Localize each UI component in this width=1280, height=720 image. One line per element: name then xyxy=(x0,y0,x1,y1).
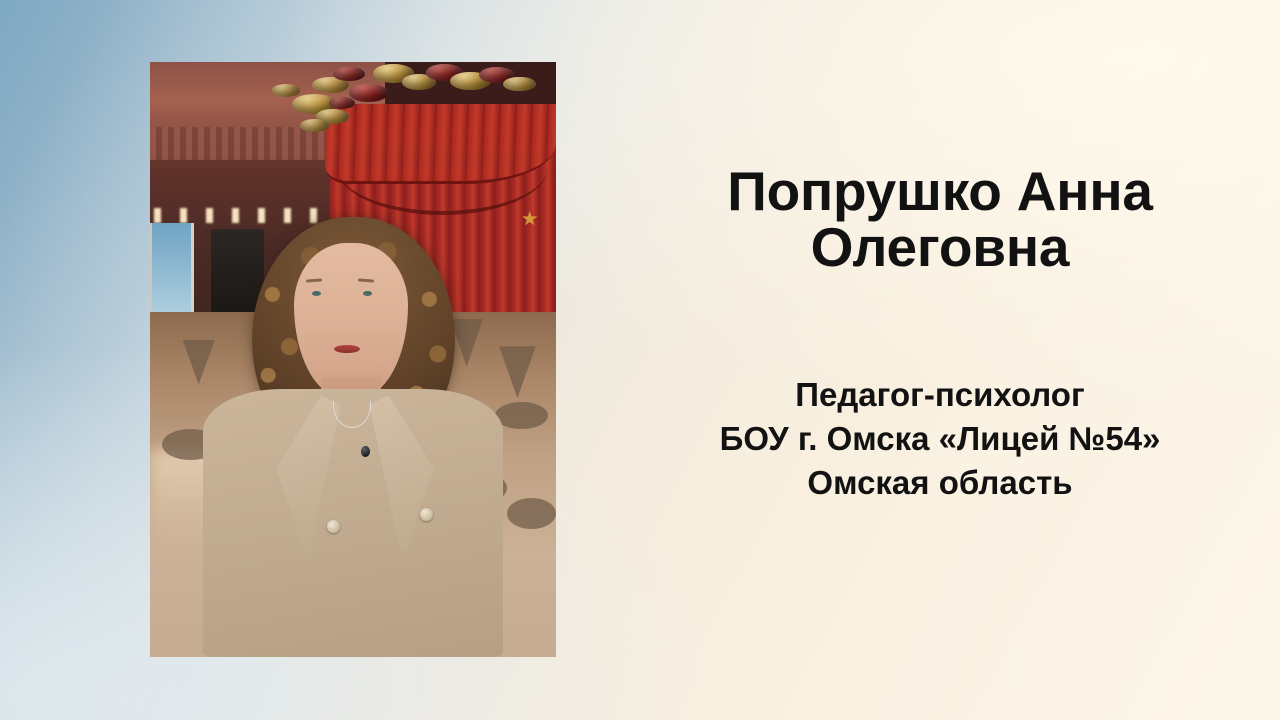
presentation-slide: Попрушко Анна Олеговна Педагог-психолог … xyxy=(0,0,1280,720)
beige-blazer xyxy=(203,389,503,657)
lips xyxy=(334,345,360,353)
title-line-1: Попрушко Анна xyxy=(600,163,1280,219)
title-line-2: Олеговна xyxy=(600,219,1280,275)
eyebrow-left xyxy=(306,278,322,282)
eyebrow-right xyxy=(358,278,374,282)
portrait-photo xyxy=(150,62,556,657)
slide-title: Попрушко Анна Олеговна xyxy=(600,163,1280,275)
necklace-pendant xyxy=(361,446,370,457)
person-figure xyxy=(150,62,556,657)
blazer-button xyxy=(327,520,340,533)
face xyxy=(294,243,408,398)
slide-subtitle: Педагог-психолог БОУ г. Омска «Лицей №54… xyxy=(600,373,1280,506)
subtitle-line-2: БОУ г. Омска «Лицей №54» xyxy=(600,417,1280,461)
subtitle-line-1: Педагог-психолог xyxy=(600,373,1280,417)
photo-content xyxy=(150,62,556,657)
text-column: Попрушко Анна Олеговна Педагог-психолог … xyxy=(600,0,1280,720)
subtitle-line-3: Омская область xyxy=(600,461,1280,505)
